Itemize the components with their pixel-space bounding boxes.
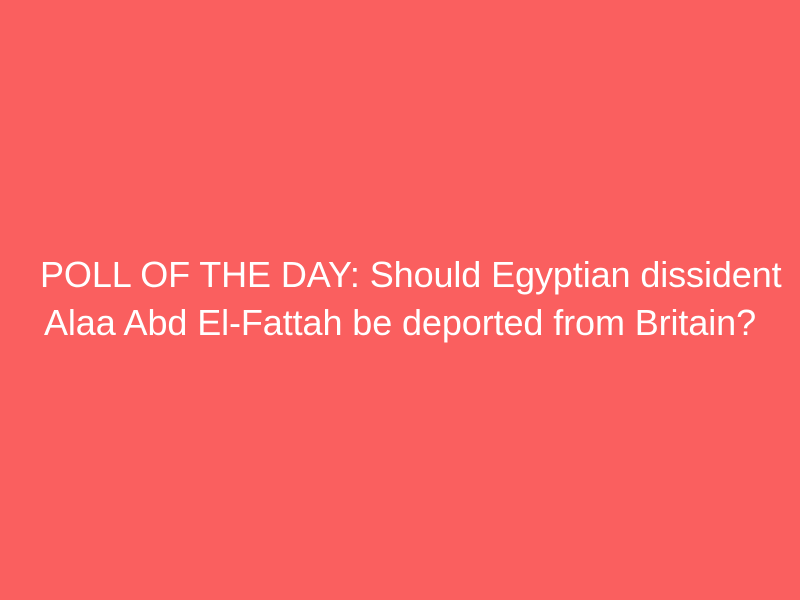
headline-line-1: POLL OF THE DAY: Should Egyptian disside… xyxy=(40,251,760,299)
poll-of-the-day-share-card: POLL OF THE DAY: Should Egyptian disside… xyxy=(0,0,800,600)
headline-block: POLL OF THE DAY: Should Egyptian disside… xyxy=(20,251,780,347)
headline-line-2: Alaa Abd El-Fattah be deported from Brit… xyxy=(40,299,760,347)
